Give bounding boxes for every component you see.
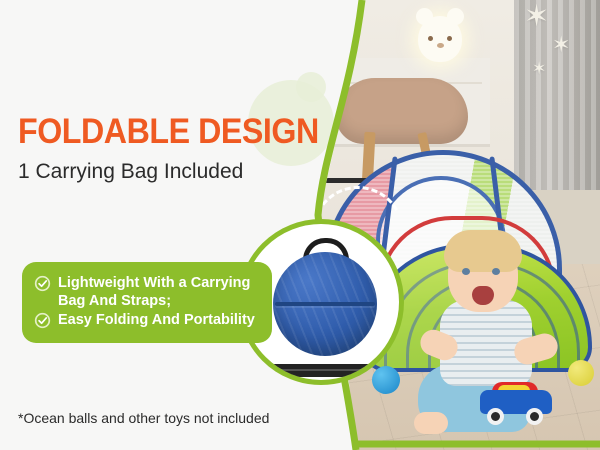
round-carrying-bag [273, 252, 377, 356]
disclaimer-text: *Ocean balls and other toys not included [18, 410, 269, 426]
subtitle: 1 Carrying Bag Included [18, 160, 243, 184]
bear-eye-left [428, 36, 433, 41]
feature-list: Lightweight With a Carrying Bag And Stra… [22, 262, 272, 343]
black-shoulder-strap [271, 364, 379, 377]
baby [418, 236, 572, 450]
product-feature-banner: ✶ ✶ ✶ [0, 0, 600, 450]
bear-ear-right [447, 8, 464, 25]
bear-lamp-icon [418, 16, 462, 62]
list-item-label: Lightweight With a Carrying Bag And Stra… [58, 274, 258, 310]
baby-hair [444, 230, 522, 272]
baby-eye-right [492, 268, 500, 275]
list-item: Easy Folding And Portability [34, 311, 258, 329]
star-decor-icon: ✶ [552, 34, 570, 56]
bag-zipper-seam [275, 302, 375, 306]
chair-seat [336, 78, 468, 144]
toy-car-wheel [526, 408, 543, 425]
page-title: FOLDABLE DESIGN [18, 112, 319, 152]
bear-eye-right [447, 36, 452, 41]
list-item-label: Easy Folding And Portability [58, 311, 255, 329]
baby-eye-left [462, 268, 470, 275]
list-item: Lightweight With a Carrying Bag And Stra… [34, 274, 258, 310]
baby-foot [414, 412, 448, 434]
check-circle-icon [34, 275, 51, 292]
bear-ear-left [416, 8, 433, 25]
baby-mouth [472, 286, 494, 305]
bear-nose [437, 43, 444, 48]
star-decor-icon: ✶ [532, 60, 546, 77]
toy-car-wheel [487, 408, 504, 425]
pale-green-circle-small [296, 72, 326, 102]
check-circle-icon [34, 312, 51, 329]
toy-car [480, 382, 552, 420]
star-decor-icon: ✶ [524, 2, 549, 32]
